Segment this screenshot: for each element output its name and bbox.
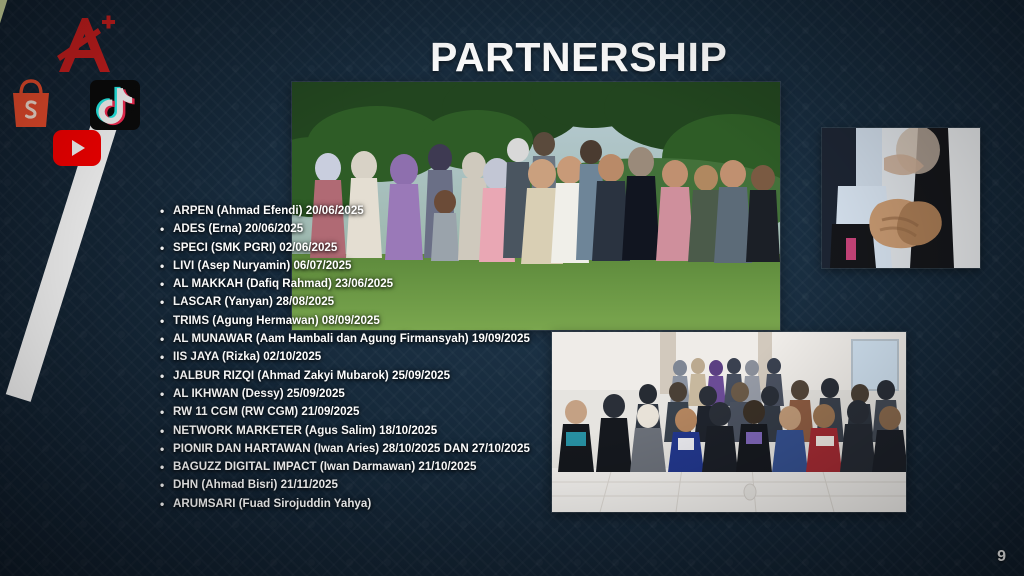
list-item: •BAGUZZ DIGITAL IMPACT (Iwan Darmawan) 2… [160, 458, 720, 476]
list-item-label: SPECI (SMK PGRI) 02/06/2025 [173, 239, 337, 257]
list-item-label: IIS JAYA (Rizka) 02/10/2025 [173, 348, 321, 366]
bullet-dot-icon: • [160, 458, 173, 476]
list-item-label: ADES (Erna) 20/06/2025 [173, 220, 303, 238]
list-item-label: AL MAKKAH (Dafiq Rahmad) 23/06/2025 [173, 275, 393, 293]
bullet-dot-icon: • [160, 257, 173, 275]
list-item: •TRIMS (Agung Hermawan) 08/09/2025 [160, 312, 720, 330]
list-item: •DHN (Ahmad Bisri) 21/11/2025 [160, 476, 720, 494]
youtube-play-triangle [72, 140, 85, 156]
handshake-photo [822, 128, 980, 268]
bullet-dot-icon: • [160, 348, 173, 366]
bullet-dot-icon: • [160, 385, 173, 403]
list-item: •LIVI (Asep Nuryamin) 06/07/2025 [160, 257, 720, 275]
list-item: •AL IKHWAN (Dessy) 25/09/2025 [160, 385, 720, 403]
bullet-dot-icon: • [160, 476, 173, 494]
list-item-label: RW 11 CGM (RW CGM) 21/09/2025 [173, 403, 359, 421]
list-item: •NETWORK MARKETER (Agus Salim) 18/10/202… [160, 422, 720, 440]
list-item-label: NETWORK MARKETER (Agus Salim) 18/10/2025 [173, 422, 437, 440]
list-item-label: ARPEN (Ahmad Efendi) 20/06/2025 [173, 202, 364, 220]
list-item-label: DHN (Ahmad Bisri) 21/11/2025 [173, 476, 338, 494]
youtube-logo [53, 130, 101, 166]
list-item: •SPECI (SMK PGRI) 02/06/2025 [160, 239, 720, 257]
list-item-label: AL MUNAWAR (Aam Hambali dan Agung Firman… [173, 330, 530, 348]
bullet-dot-icon: • [160, 202, 173, 220]
list-item-label: BAGUZZ DIGITAL IMPACT (Iwan Darmawan) 21… [173, 458, 476, 476]
list-item: •IIS JAYA (Rizka) 02/10/2025 [160, 348, 720, 366]
list-item-label: AL IKHWAN (Dessy) 25/09/2025 [173, 385, 345, 403]
bullet-dot-icon: • [160, 495, 173, 513]
list-item: •ADES (Erna) 20/06/2025 [160, 220, 720, 238]
page-title: PARTNERSHIP [430, 34, 727, 81]
a-plus-logo [52, 14, 122, 76]
list-item-label: TRIMS (Agung Hermawan) 08/09/2025 [173, 312, 380, 330]
list-item: •LASCAR (Yanyan) 28/08/2025 [160, 293, 720, 311]
bullet-dot-icon: • [160, 422, 173, 440]
list-item-label: PIONIR DAN HARTAWAN (Iwan Aries) 28/10/2… [173, 440, 530, 458]
list-item: •ARPEN (Ahmad Efendi) 20/06/2025 [160, 202, 720, 220]
page-number: 9 [997, 548, 1006, 566]
slide-canvas: PARTNERSHIP [0, 0, 1024, 576]
shopee-logo [8, 78, 54, 130]
list-item: •AL MAKKAH (Dafiq Rahmad) 23/06/2025 [160, 275, 720, 293]
bullet-dot-icon: • [160, 367, 173, 385]
bullet-dot-icon: • [160, 293, 173, 311]
list-item: •AL MUNAWAR (Aam Hambali dan Agung Firma… [160, 330, 720, 348]
bullet-dot-icon: • [160, 330, 173, 348]
list-item: •RW 11 CGM (RW CGM) 21/09/2025 [160, 403, 720, 421]
partner-list: •ARPEN (Ahmad Efendi) 20/06/2025•ADES (E… [160, 202, 720, 513]
list-item-label: LIVI (Asep Nuryamin) 06/07/2025 [173, 257, 352, 275]
tiktok-logo [90, 80, 140, 130]
list-item: •ARUMSARI (Fuad Sirojuddin Yahya) [160, 495, 720, 513]
bullet-dot-icon: • [160, 403, 173, 421]
list-item-label: JALBUR RIZQI (Ahmad Zakyi Mubarok) 25/09… [173, 367, 450, 385]
logo-cluster [0, 0, 180, 180]
bullet-dot-icon: • [160, 239, 173, 257]
list-item: •JALBUR RIZQI (Ahmad Zakyi Mubarok) 25/0… [160, 367, 720, 385]
bullet-dot-icon: • [160, 440, 173, 458]
list-item-label: ARUMSARI (Fuad Sirojuddin Yahya) [173, 495, 371, 513]
list-item: •PIONIR DAN HARTAWAN (Iwan Aries) 28/10/… [160, 440, 720, 458]
bullet-dot-icon: • [160, 220, 173, 238]
bullet-dot-icon: • [160, 275, 173, 293]
list-item-label: LASCAR (Yanyan) 28/08/2025 [173, 293, 334, 311]
bullet-dot-icon: • [160, 312, 173, 330]
